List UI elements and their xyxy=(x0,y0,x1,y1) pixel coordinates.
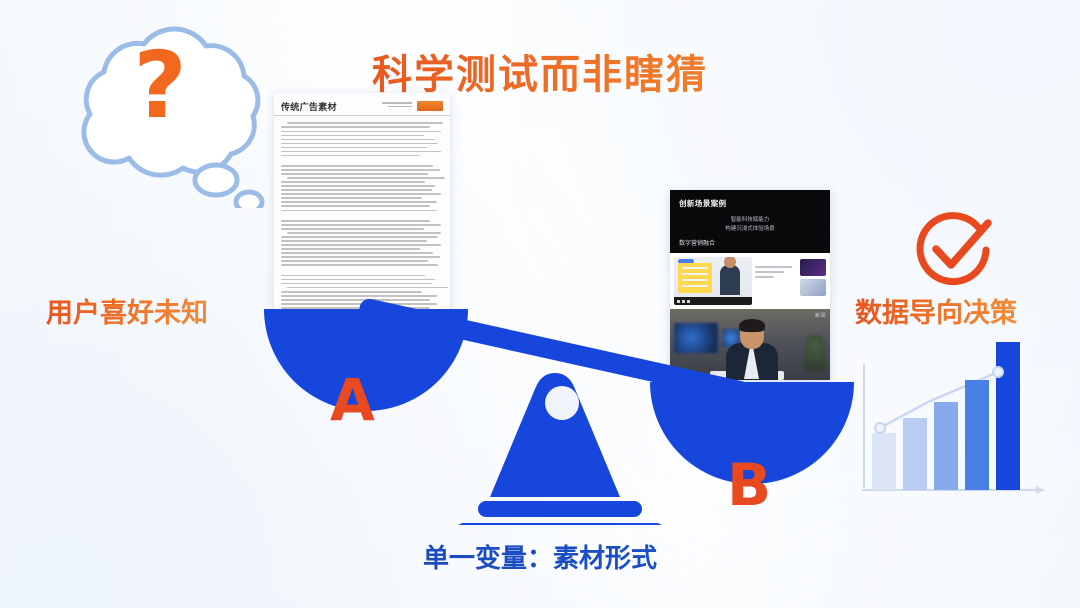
newspaper-header: 传统广告素材 xyxy=(274,93,450,116)
newspaper-text-line xyxy=(281,275,425,277)
newspaper-paragraph-gap xyxy=(281,268,443,272)
bottom-caption: 单一变量：素材形式 xyxy=(0,538,1080,575)
video-dark-subtitle-line1: 智能科技赋能力 xyxy=(679,216,821,225)
newspaper-text-line xyxy=(281,173,428,175)
newspaper-text-line xyxy=(281,264,438,266)
newspaper-text-line xyxy=(281,189,432,191)
newspaper-text-line xyxy=(281,197,422,199)
label-user-preference-unknown: 用户喜好未知 xyxy=(46,291,208,330)
newspaper-body xyxy=(274,116,450,311)
newspaper-subheading-lines xyxy=(342,100,412,109)
newspaper-text-line xyxy=(281,181,425,183)
scale-label-a: A xyxy=(330,371,375,429)
newspaper-title: 传统广告素材 xyxy=(281,100,337,113)
newspaper-text-line xyxy=(281,279,435,281)
video-dark-footer: 数字营销融合 xyxy=(679,238,715,247)
scale-base-upper xyxy=(478,501,642,517)
newspaper-paragraph-gap xyxy=(281,214,443,218)
chart-bars xyxy=(872,342,1020,490)
chart-bar-5 xyxy=(996,342,1020,490)
newspaper-text-line xyxy=(281,252,433,254)
chart-bar-3 xyxy=(934,402,958,490)
newspaper-text-line xyxy=(281,151,441,153)
newspaper-text-line xyxy=(287,122,443,124)
scale-pivot-dot xyxy=(545,386,579,420)
check-circle-icon xyxy=(908,205,998,295)
newspaper-text-line xyxy=(281,139,435,141)
newspaper-text-line xyxy=(281,240,427,242)
newspaper-text-line xyxy=(281,205,430,207)
scale-label-b: B xyxy=(727,456,771,514)
newspaper-text-line xyxy=(281,201,437,203)
newspaper-text-line xyxy=(281,135,424,137)
question-mark-glyph: ? xyxy=(44,40,276,132)
chart-trend-marker-end xyxy=(993,367,1003,377)
newspaper-text-line xyxy=(281,256,440,258)
chart-bar-1 xyxy=(872,433,896,490)
newspaper-paragraph-gap xyxy=(281,159,443,163)
slide-canvas: 科学测试而非瞎猜 ? 传统广告素材 创新场景案例 智能科技赋能力 构建沉浸式体验… xyxy=(0,0,1080,608)
video-dark-subtitle-line2: 构建沉浸式体验场景 xyxy=(679,225,821,234)
newspaper-text-line xyxy=(281,224,441,226)
newspaper-text-line xyxy=(281,165,433,167)
newspaper-text-line xyxy=(281,126,430,128)
chart-bar-2 xyxy=(903,418,927,490)
newspaper-text-line xyxy=(287,177,444,179)
newspaper-text-line xyxy=(281,260,428,262)
scale-base-lower xyxy=(456,523,664,525)
video-dark-title: 创新场景案例 xyxy=(679,198,821,209)
video-dark-panel: 创新场景案例 智能科技赋能力 构建沉浸式体验场景 数字营销融合 xyxy=(670,190,830,253)
growth-bar-chart xyxy=(858,328,1050,512)
newspaper-text-line xyxy=(281,143,438,145)
newspaper-text-line xyxy=(281,193,441,195)
newspaper-badge xyxy=(417,101,443,111)
chart-trend-marker-start xyxy=(875,423,885,433)
newspaper-text-line xyxy=(281,131,441,133)
label-data-driven-decision: 数据导向决策 xyxy=(855,291,1017,330)
newspaper-text-line xyxy=(281,236,438,238)
newspaper-text-line xyxy=(281,155,420,157)
chart-bar-4 xyxy=(965,380,989,490)
newspaper-text-line xyxy=(281,248,420,250)
newspaper-text-line xyxy=(281,147,427,149)
newspaper-text-line xyxy=(281,220,430,222)
newspaper-text-line xyxy=(281,210,437,212)
chart-axis-arrow xyxy=(1036,486,1044,494)
newspaper-text-line xyxy=(287,232,441,234)
newspaper-text-line xyxy=(281,228,424,230)
newspaper-text-line xyxy=(281,169,440,171)
thought-bubble: ? xyxy=(44,18,276,208)
video-dark-subtitle: 智能科技赋能力 构建沉浸式体验场景 xyxy=(679,216,821,235)
newspaper-card[interactable]: 传统广告素材 xyxy=(274,93,450,311)
newspaper-text-line xyxy=(281,185,435,187)
newspaper-text-line xyxy=(281,244,441,246)
